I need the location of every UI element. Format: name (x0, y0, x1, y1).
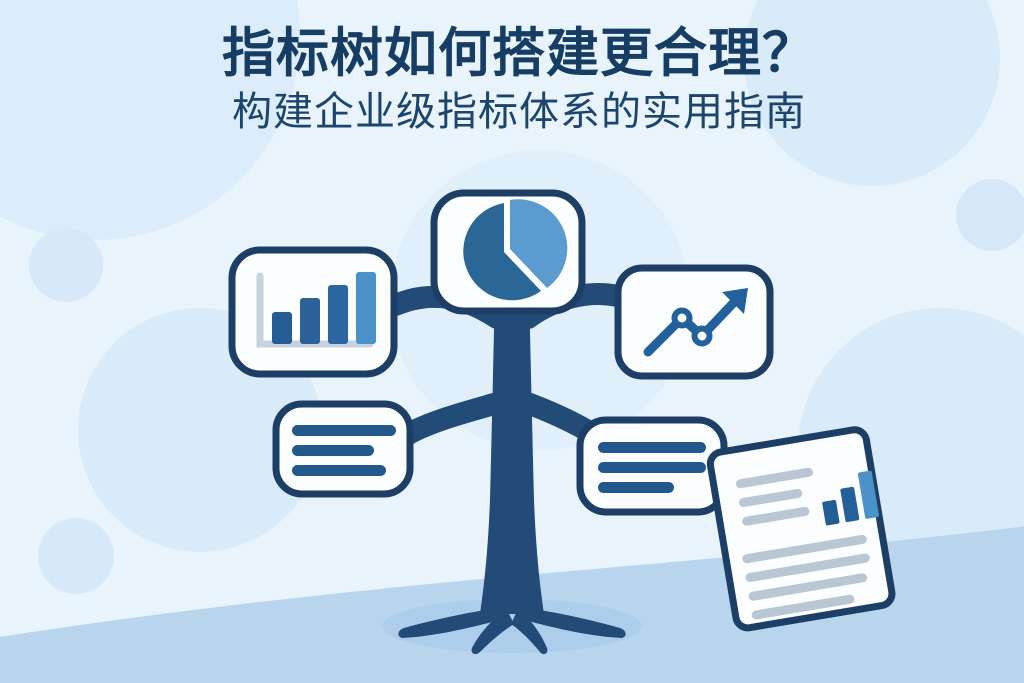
left-text-card-line-1 (292, 425, 396, 436)
trend-line-marker-1 (675, 311, 690, 326)
trend-line-marker-2 (695, 329, 710, 344)
left-text-card-line-3 (292, 465, 386, 476)
bar-chart-card[interactable] (232, 250, 394, 374)
bar-chart-bar-4 (356, 272, 376, 344)
right-text-card[interactable] (580, 420, 724, 512)
bar-chart-bar-2 (300, 298, 320, 344)
right-text-card-line-1 (598, 442, 706, 453)
document-sheet-frame[interactable] (709, 428, 894, 630)
trend-line-card[interactable] (618, 268, 770, 376)
right-text-card-line-2 (598, 462, 706, 473)
trend-line-card-frame[interactable] (618, 268, 770, 376)
pie-chart-card[interactable] (434, 193, 582, 311)
document-sheet[interactable] (709, 428, 894, 630)
bar-chart-bar-3 (328, 285, 348, 344)
bar-chart-bar-1 (272, 312, 292, 344)
left-text-card-line-2 (292, 445, 374, 456)
left-text-card[interactable] (276, 404, 410, 494)
illustration-layer (0, 0, 1024, 683)
poster-canvas: 指标树如何搭建更合理？ 构建企业级指标体系的实用指南 (0, 0, 1024, 683)
right-text-card-line-3 (598, 482, 674, 493)
